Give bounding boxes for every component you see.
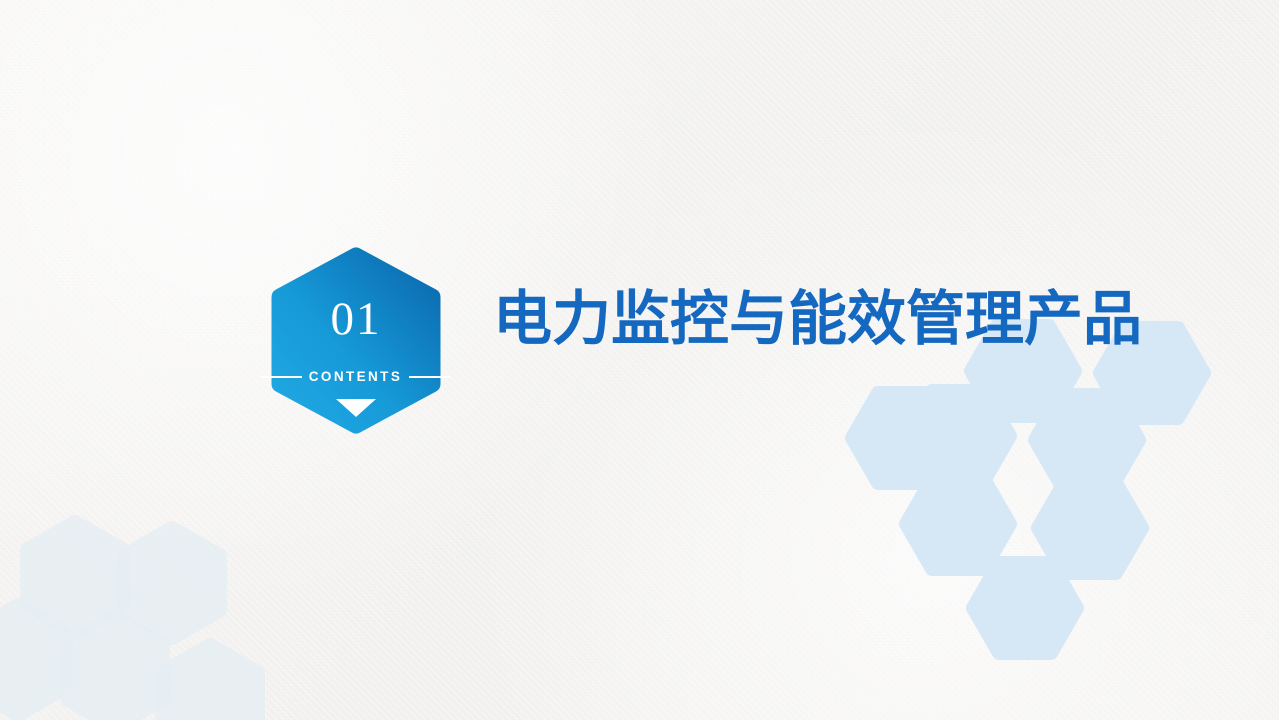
- hexagon-shape: [852, 393, 956, 483]
- hexagon-shape: [906, 391, 1010, 481]
- slide-title: 电力监控与能效管理产品: [493, 288, 1142, 352]
- hexagon-shape: [1038, 483, 1142, 573]
- hexagon-shape: [906, 479, 1010, 569]
- slide-canvas: 01 CONTENTS 电力监控与能效管理产品: [0, 0, 1279, 720]
- hexagon-decoration-layer: [0, 0, 1279, 720]
- hexagon-shape: [28, 523, 122, 631]
- hexagon-shape: [973, 563, 1077, 653]
- hexagon-cluster-right: [852, 326, 1204, 653]
- hexagon-shape: [125, 529, 219, 637]
- hexagon-shape: [0, 606, 65, 714]
- hexagon-cluster-left: [0, 523, 257, 720]
- background-texture: [0, 0, 1279, 720]
- hexagon-shape: [1035, 395, 1139, 485]
- hexagon-shape: [68, 618, 162, 720]
- contents-badge[interactable]: 01 CONTENTS: [265, 247, 447, 434]
- badge-contents-row: CONTENTS: [261, 367, 450, 387]
- badge-rule-left: [261, 376, 302, 378]
- badge-number: 01: [331, 296, 382, 343]
- badge-rule-right: [409, 376, 450, 378]
- hexagon-shape: [163, 646, 257, 720]
- badge-contents-label: CONTENTS: [302, 370, 409, 384]
- triangle-down-icon: [336, 399, 376, 417]
